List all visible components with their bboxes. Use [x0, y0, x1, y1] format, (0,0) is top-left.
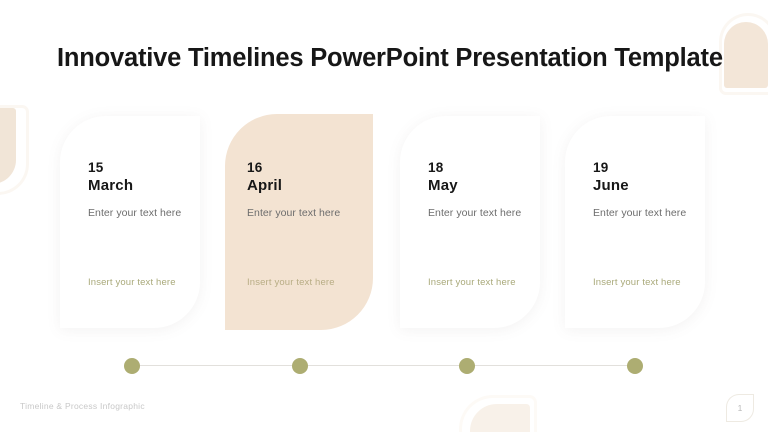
card-month: April: [247, 177, 282, 194]
timeline-dot-3[interactable]: [459, 358, 475, 374]
footer-note: Timeline & Process Infographic: [20, 401, 145, 411]
card-day: 15: [88, 160, 103, 175]
page-number-badge: 1: [727, 395, 753, 421]
timeline-dot-1[interactable]: [124, 358, 140, 374]
card-month: March: [88, 177, 133, 194]
card-body[interactable]: Enter your text here: [428, 207, 521, 219]
card-insert[interactable]: Insert your text here: [428, 277, 516, 288]
card-insert[interactable]: Insert your text here: [247, 277, 335, 288]
timeline-card-2[interactable]: 16 April Enter your text here Insert you…: [225, 114, 373, 330]
bottom-decor-shape-icon: [470, 404, 530, 432]
card-body[interactable]: Enter your text here: [593, 207, 686, 219]
timeline-card-4[interactable]: 19 June Enter your text here Insert your…: [565, 116, 705, 328]
timeline-dot-2[interactable]: [292, 358, 308, 374]
card-day: 19: [593, 160, 608, 175]
page-title: Innovative Timelines PowerPoint Presenta…: [57, 44, 723, 73]
timeline-card-3[interactable]: 18 May Enter your text here Insert your …: [400, 116, 540, 328]
timeline-card-1[interactable]: 15 March Enter your text here Insert you…: [60, 116, 200, 328]
timeline-track: [0, 356, 768, 376]
card-insert[interactable]: Insert your text here: [593, 277, 681, 288]
card-body[interactable]: Enter your text here: [247, 207, 340, 219]
card-month: May: [428, 177, 458, 194]
card-insert[interactable]: Insert your text here: [88, 277, 176, 288]
timeline-cards: 15 March Enter your text here Insert you…: [0, 116, 768, 328]
arch-outline-shape: [722, 16, 768, 92]
timeline-dot-4[interactable]: [627, 358, 643, 374]
card-body[interactable]: Enter your text here: [88, 207, 181, 219]
arch-shape-icon: [724, 22, 768, 88]
card-month: June: [593, 177, 629, 194]
card-day: 18: [428, 160, 443, 175]
card-day: 16: [247, 160, 262, 175]
bottom-decor-outline: [462, 398, 534, 432]
slide-canvas: Innovative Timelines PowerPoint Presenta…: [0, 0, 768, 432]
timeline-line: [131, 365, 635, 366]
